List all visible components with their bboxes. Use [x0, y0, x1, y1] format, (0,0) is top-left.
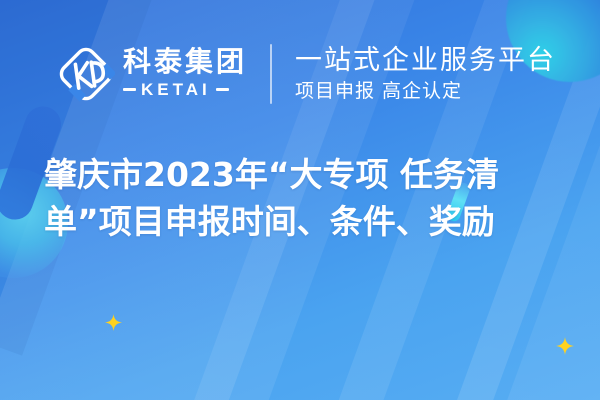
dash-right-icon: [216, 88, 229, 91]
brand-name-en: KETAI: [141, 80, 211, 100]
tagline-block: 一站式企业服务平台 项目申报 高企认定: [295, 46, 556, 102]
brand-name-cn: 科泰集团: [123, 48, 247, 77]
brand-name-en-row: KETAI: [123, 80, 247, 100]
promo-banner: 科泰集团 KETAI 一站式企业服务平台 项目申报 高企认定 肇庆市2023年“…: [0, 0, 600, 400]
brand-wordmark: 科泰集团 KETAI: [123, 48, 247, 100]
tagline-main: 一站式企业服务平台: [295, 46, 556, 76]
ketai-diamond-monogram-icon: [57, 45, 115, 103]
header-divider: [270, 44, 272, 104]
page-title: 肇庆市2023年“大专项 任务清单”项目申报时间、条件、奖励: [44, 152, 560, 246]
sparkle-icon: [105, 314, 122, 331]
banner-header: 科泰集团 KETAI 一站式企业服务平台 项目申报 高企认定: [0, 36, 600, 112]
brand-logo: 科泰集团 KETAI: [57, 45, 247, 103]
dash-left-icon: [123, 88, 136, 91]
sparkle-icon: [556, 337, 574, 355]
tagline-sub: 项目申报 高企认定: [295, 81, 556, 102]
